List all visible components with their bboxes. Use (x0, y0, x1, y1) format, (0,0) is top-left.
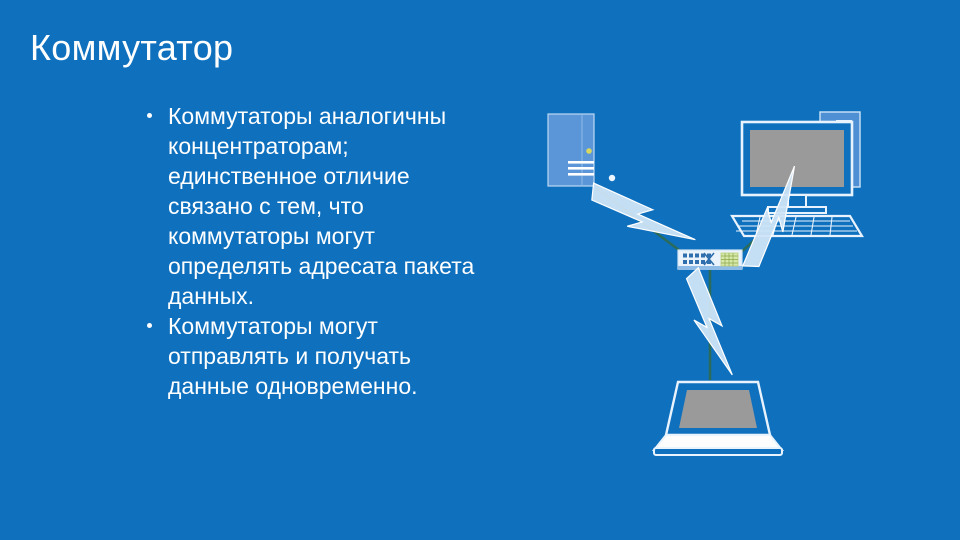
bullet-dot-icon (147, 113, 152, 118)
network-switch-icon (678, 250, 742, 270)
desktop-computer-icon (732, 112, 862, 236)
status-dot-icon (609, 175, 615, 181)
link-bolts (584, 166, 816, 381)
list-item: Коммутаторы могут отправлять и получать … (136, 311, 496, 401)
network-diagram (520, 90, 960, 470)
bullet-dot-icon (147, 323, 152, 328)
lightning-bolt-icon (683, 266, 734, 381)
laptop-icon (654, 382, 782, 455)
slide-canvas: Коммутатор Коммутаторы аналогичны концен… (0, 0, 960, 540)
page-title: Коммутатор (30, 27, 233, 68)
list-item-text: Коммутаторы могут отправлять и получать … (168, 313, 418, 399)
list-item: Коммутаторы аналогичны концентраторам; е… (136, 101, 496, 311)
list-item-text: Коммутаторы аналогичны концентраторам; е… (168, 103, 474, 309)
server-tower-icon (548, 114, 615, 186)
bullet-list: Коммутаторы аналогичны концентраторам; е… (136, 101, 496, 401)
